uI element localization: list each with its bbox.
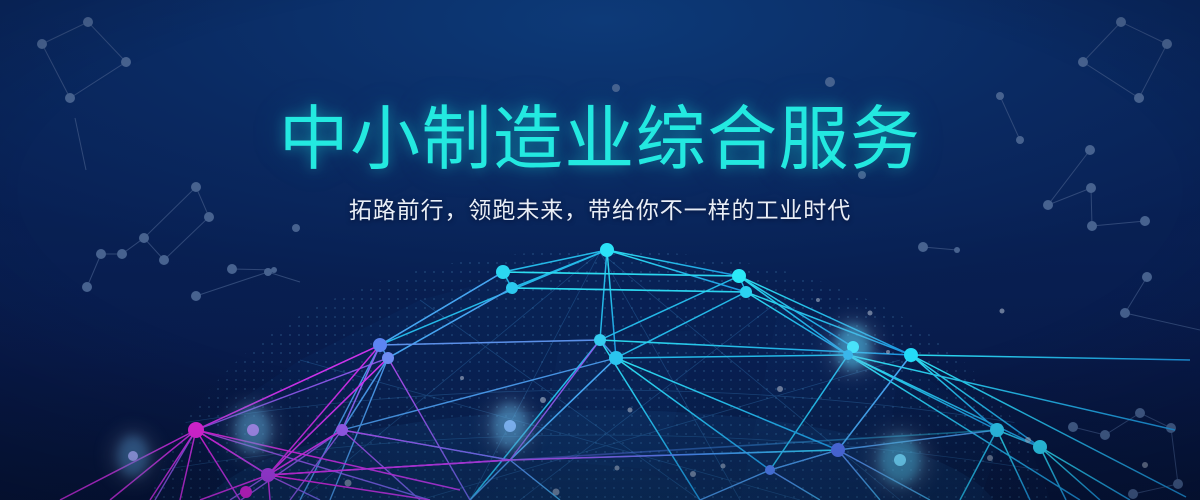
hero-text-block: 中小制造业综合服务 拓路前行，领跑未来，带给你不一样的工业时代 [0, 0, 1200, 225]
dome-edges-cyan [380, 250, 1190, 500]
dome-halo-nodes [109, 317, 930, 492]
hero-banner: 中小制造业综合服务 拓路前行，领跑未来，带给你不一样的工业时代 [0, 0, 1200, 500]
page-subtitle: 拓路前行，领跑未来，带给你不一样的工业时代 [0, 174, 1200, 225]
page-title: 中小制造业综合服务 [0, 0, 1200, 174]
